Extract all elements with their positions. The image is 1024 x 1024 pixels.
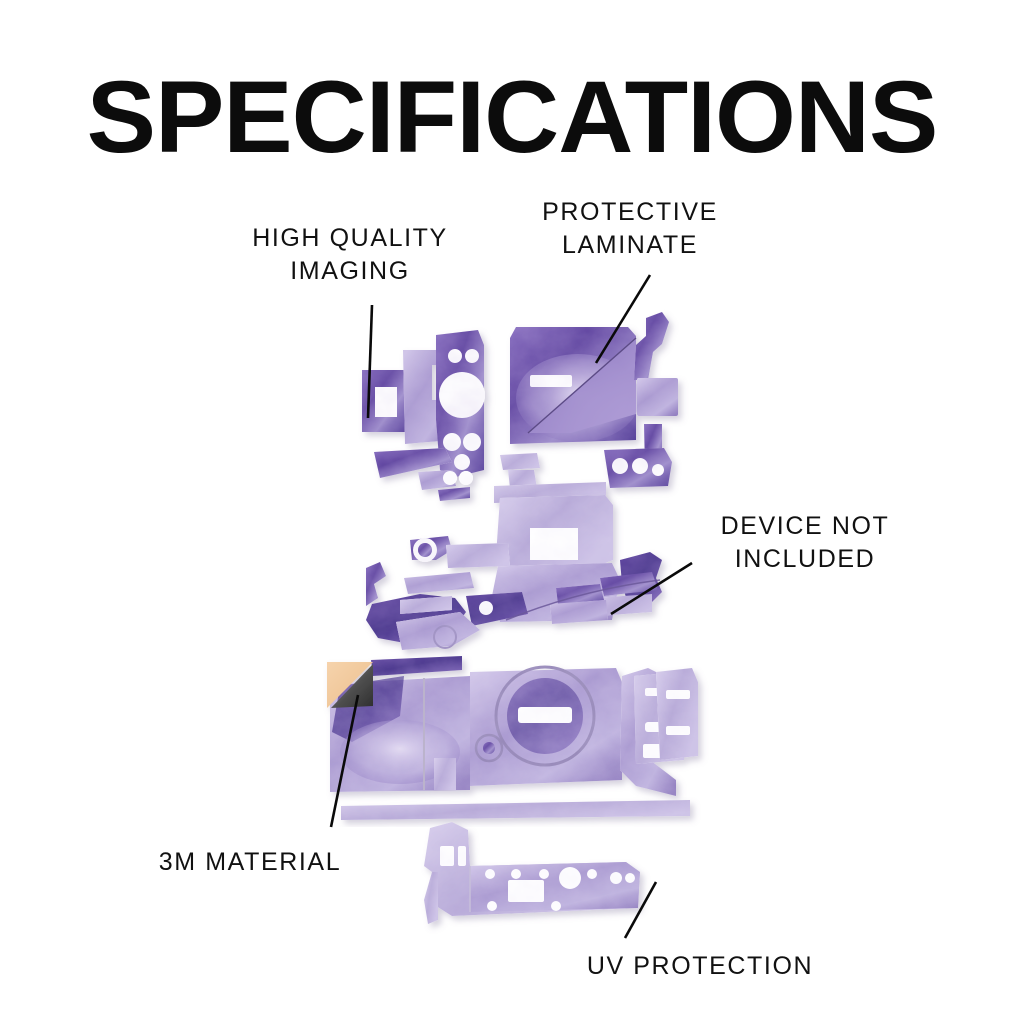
decal-edge-strip xyxy=(341,800,690,820)
decal-group-mid-row xyxy=(366,495,662,650)
callout-label-protective-laminate: PROTECTIVE LAMINATE xyxy=(489,196,771,262)
page-title: SPECIFICATIONS xyxy=(0,62,1024,172)
specifications-graphic: SPECIFICATIONS HIGH QUALITY IMAGING PROT… xyxy=(0,0,1024,1024)
callout-label-device-not-included: DEVICE NOT INCLUDED xyxy=(650,510,960,576)
callout-label-3m-material: 3M MATERIAL xyxy=(100,846,400,879)
callout-label-high-quality-imaging: HIGH QUALITY IMAGING xyxy=(200,222,500,288)
decal-group-top-row xyxy=(362,312,678,503)
callout-label-uv-protection: UV PROTECTION xyxy=(535,950,865,983)
decal-group-lower-row xyxy=(327,656,698,796)
backing-peel-corner xyxy=(327,662,373,708)
decal-group-bottom-row xyxy=(424,822,640,924)
